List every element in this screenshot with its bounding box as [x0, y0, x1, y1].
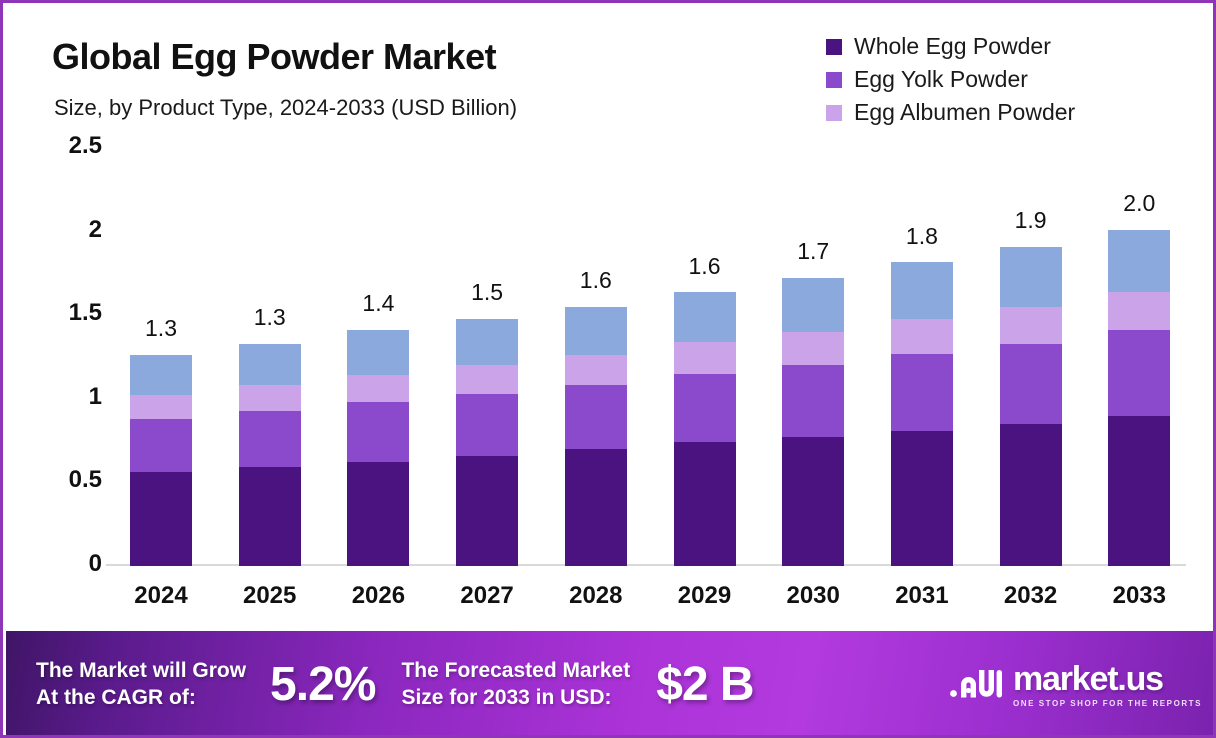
bar-segment	[674, 374, 736, 443]
bar-value-label: 1.6	[580, 267, 612, 294]
bar-column[interactable]	[674, 292, 736, 566]
bar-segment	[1108, 416, 1170, 566]
bar-value-label: 1.5	[471, 279, 503, 306]
bar-segment	[565, 449, 627, 566]
bar-value-label: 1.3	[145, 315, 177, 342]
y-axis-tick-label: 0	[22, 550, 102, 578]
bar-value-label: 1.9	[1015, 207, 1047, 234]
bar-segment	[674, 292, 736, 342]
forecast-label: The Forecasted Market Size for 2033 in U…	[401, 658, 630, 712]
y-axis-tick-label: 0.5	[22, 466, 102, 494]
y-axis-tick-label: 2	[22, 216, 102, 244]
bar-column[interactable]	[239, 344, 301, 566]
bar-segment	[891, 262, 953, 319]
logo-tagline: ONE STOP SHOP FOR THE REPORTS	[1013, 699, 1202, 708]
summary-banner: The Market will Grow At the CAGR of: 5.2…	[6, 631, 1216, 738]
bar-segment	[347, 330, 409, 375]
x-axis-tick-label: 2026	[323, 582, 433, 610]
legend-swatch-icon	[826, 105, 842, 121]
bar-column[interactable]	[782, 278, 844, 566]
infographic-frame: Global Egg Powder Market Size, by Produc…	[0, 0, 1216, 738]
bar-segment	[347, 402, 409, 462]
bar-column[interactable]	[1108, 230, 1170, 566]
legend-label: Egg Albumen Powder	[854, 99, 1075, 126]
legend-swatch-icon	[826, 72, 842, 88]
x-axis-tick-label: 2032	[976, 582, 1086, 610]
legend-swatch-icon	[826, 39, 842, 55]
bar-segment	[130, 395, 192, 418]
chart-panel: Global Egg Powder Market Size, by Produc…	[6, 6, 1216, 628]
bar-segment	[456, 365, 518, 393]
bar-segment	[565, 307, 627, 355]
bar-segment	[1000, 344, 1062, 424]
cagr-label: The Market will Grow At the CAGR of:	[36, 658, 246, 712]
bar-segment	[456, 394, 518, 456]
bar-value-label: 1.3	[254, 304, 286, 331]
bar-segment	[1108, 292, 1170, 330]
market-us-mark-icon	[949, 664, 1003, 705]
bar-segment	[891, 354, 953, 431]
bar-segment	[239, 344, 301, 386]
plot-area: 00.511.522.5 1.320241.320251.420261.5202…	[106, 146, 1186, 566]
bar-column[interactable]	[1000, 247, 1062, 566]
x-axis-tick-label: 2025	[215, 582, 325, 610]
x-axis-tick-label: 2031	[867, 582, 977, 610]
x-axis-tick-label: 2028	[541, 582, 651, 610]
bar-column[interactable]	[891, 262, 953, 566]
bar-segment	[565, 355, 627, 385]
bar-segment	[782, 437, 844, 566]
bar-segment	[239, 385, 301, 410]
logo-name: market.us	[1013, 662, 1202, 696]
x-axis-tick-label: 2030	[758, 582, 868, 610]
bar-segment	[347, 375, 409, 402]
x-axis-tick-label: 2029	[650, 582, 760, 610]
logo-wordmark: market.us ONE STOP SHOP FOR THE REPORTS	[1013, 662, 1202, 708]
bar-segment	[782, 278, 844, 332]
y-axis-tick-label: 2.5	[22, 132, 102, 160]
bar-segment	[1000, 247, 1062, 307]
x-axis-tick-label: 2024	[106, 582, 216, 610]
bar-segment	[674, 342, 736, 374]
bar-segment	[456, 319, 518, 366]
bar-segment	[782, 365, 844, 437]
bar-segment	[1108, 230, 1170, 292]
bar-segment	[674, 442, 736, 566]
bar-segment	[1108, 330, 1170, 415]
bar-value-label: 1.7	[797, 238, 829, 265]
bar-segment	[456, 456, 518, 566]
legend-item[interactable]: Egg Yolk Powder	[826, 63, 1075, 96]
bar-column[interactable]	[456, 319, 518, 566]
legend-item[interactable]: Whole Egg Powder	[826, 30, 1075, 63]
bar-value-label: 1.6	[689, 253, 721, 280]
bar-segment	[1000, 424, 1062, 566]
bar-value-label: 1.8	[906, 223, 938, 250]
bar-segment	[891, 431, 953, 566]
bar-segment	[130, 419, 192, 473]
bar-segment	[347, 462, 409, 566]
bar-segment	[239, 467, 301, 566]
cagr-value: 5.2%	[270, 657, 375, 712]
page-title: Global Egg Powder Market	[52, 36, 496, 78]
bar-segment	[239, 411, 301, 468]
y-axis-tick-label: 1.5	[22, 299, 102, 327]
bar-column[interactable]	[565, 307, 627, 566]
x-axis-tick-label: 2033	[1084, 582, 1194, 610]
chart-legend: Whole Egg PowderEgg Yolk PowderEgg Album…	[826, 30, 1075, 129]
bar-column[interactable]	[130, 355, 192, 566]
market-us-logo[interactable]: market.us ONE STOP SHOP FOR THE REPORTS	[949, 662, 1202, 708]
legend-label: Whole Egg Powder	[854, 33, 1051, 60]
bar-segment	[565, 385, 627, 449]
x-axis-tick-label: 2027	[432, 582, 542, 610]
bar-value-label: 2.0	[1123, 190, 1155, 217]
bar-segment	[782, 332, 844, 365]
legend-item[interactable]: Egg Albumen Powder	[826, 96, 1075, 129]
bar-value-label: 1.4	[362, 290, 394, 317]
bar-segment	[130, 472, 192, 566]
legend-label: Egg Yolk Powder	[854, 66, 1028, 93]
y-axis-tick-label: 1	[22, 383, 102, 411]
forecast-value: $2 B	[656, 657, 753, 712]
chart-subtitle: Size, by Product Type, 2024-2033 (USD Bi…	[54, 95, 517, 121]
bar-column[interactable]	[347, 330, 409, 566]
bar-segment	[891, 319, 953, 354]
bar-segment	[130, 355, 192, 395]
bar-segment	[1000, 307, 1062, 344]
